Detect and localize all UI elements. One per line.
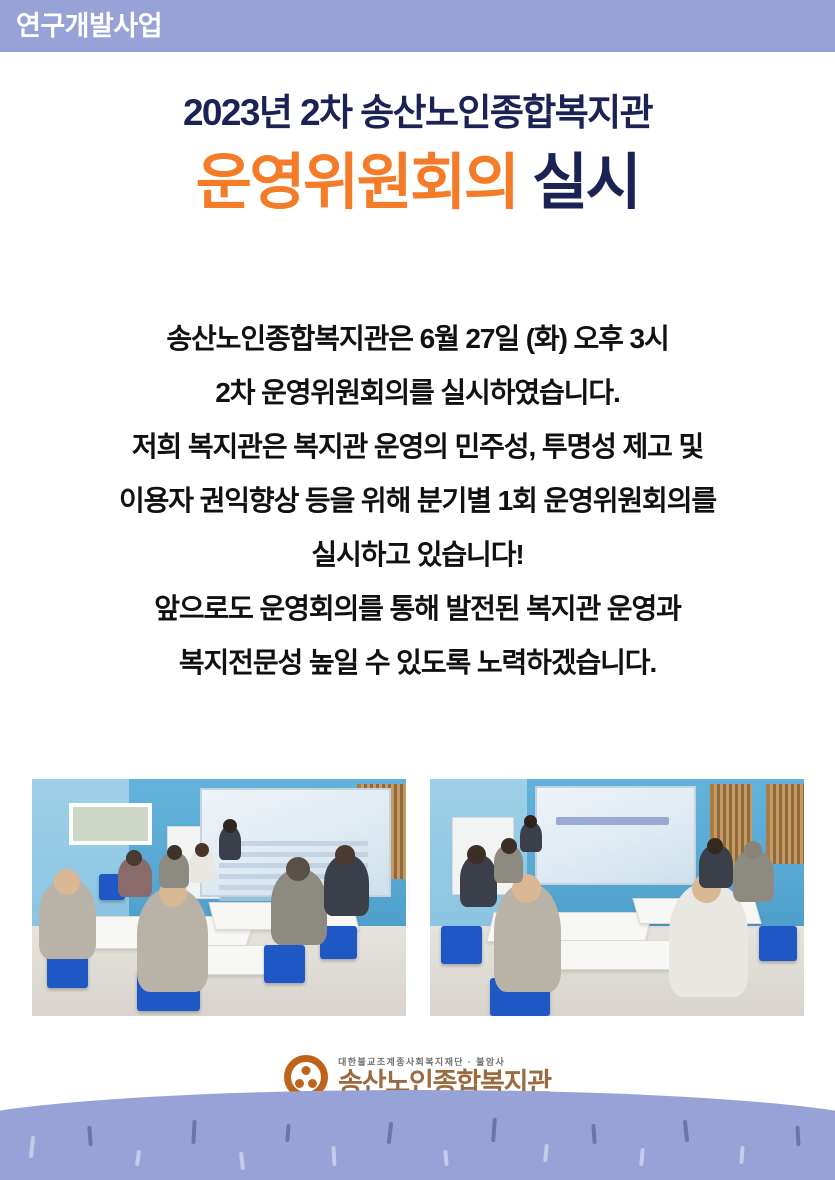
photo-projection-screen (535, 786, 696, 885)
photo-lattice-window (766, 784, 804, 865)
body-line: 저희 복지관은 복지관 운영의 민주성, 투명성 제고 및 (0, 420, 835, 474)
meeting-room-photo-left (32, 779, 406, 1016)
photo-gallery (32, 779, 804, 1016)
photo-screen-headline (556, 817, 669, 826)
photo-chair (441, 926, 482, 964)
photo-person-head (195, 843, 209, 857)
photo-person-head (524, 815, 537, 828)
photo-chair (759, 926, 796, 962)
photo-person-head (707, 838, 723, 854)
photo-person-head (167, 845, 182, 860)
photo-person-head (744, 841, 762, 859)
meeting-room-photo-right (430, 779, 804, 1016)
title-block: 2023년 2차 송산노인종합복지관 운영위원회의 실시 (0, 90, 835, 222)
top-category-band: 연구개발사업 (0, 0, 835, 52)
title-accent-text: 운영위원회의 (196, 148, 518, 216)
photo-person-head (126, 850, 142, 866)
body-line: 복지전문성 높일 수 있도록 노력하겠습니다. (0, 636, 835, 690)
body-copy: 송산노인종합복지관은 6월 27일 (화) 오후 3시 2차 운영위원회의를 실… (0, 312, 835, 690)
body-line: 이용자 권익향상 등을 위해 분기별 1회 운영위원회의를 (0, 474, 835, 528)
title-line-2: 운영위원회의 실시 (0, 142, 835, 222)
photo-window (69, 803, 151, 846)
logo-foundation-name: 대한불교조계종사회복지재단 · 불암사 (338, 1058, 551, 1067)
footer-decorative-band (0, 1090, 835, 1180)
body-line: 2차 운영위원회의를 실시하였습니다. (0, 366, 835, 420)
photo-person-head (223, 819, 237, 833)
body-line: 앞으로도 운영회의를 통해 발전된 복지관 운영과 (0, 582, 835, 636)
poster-canvas: 연구개발사업 2023년 2차 송산노인종합복지관 운영위원회의 실시 송산노인… (0, 0, 835, 1180)
title-line-1: 2023년 2차 송산노인종합복지관 (0, 90, 835, 136)
body-line: 실시하고 있습니다! (0, 528, 835, 582)
title-rest-text: 실시 (518, 148, 640, 216)
photo-chair (264, 945, 305, 983)
category-label: 연구개발사업 (16, 5, 162, 47)
body-line: 송산노인종합복지관은 6월 27일 (화) 오후 3시 (0, 312, 835, 366)
